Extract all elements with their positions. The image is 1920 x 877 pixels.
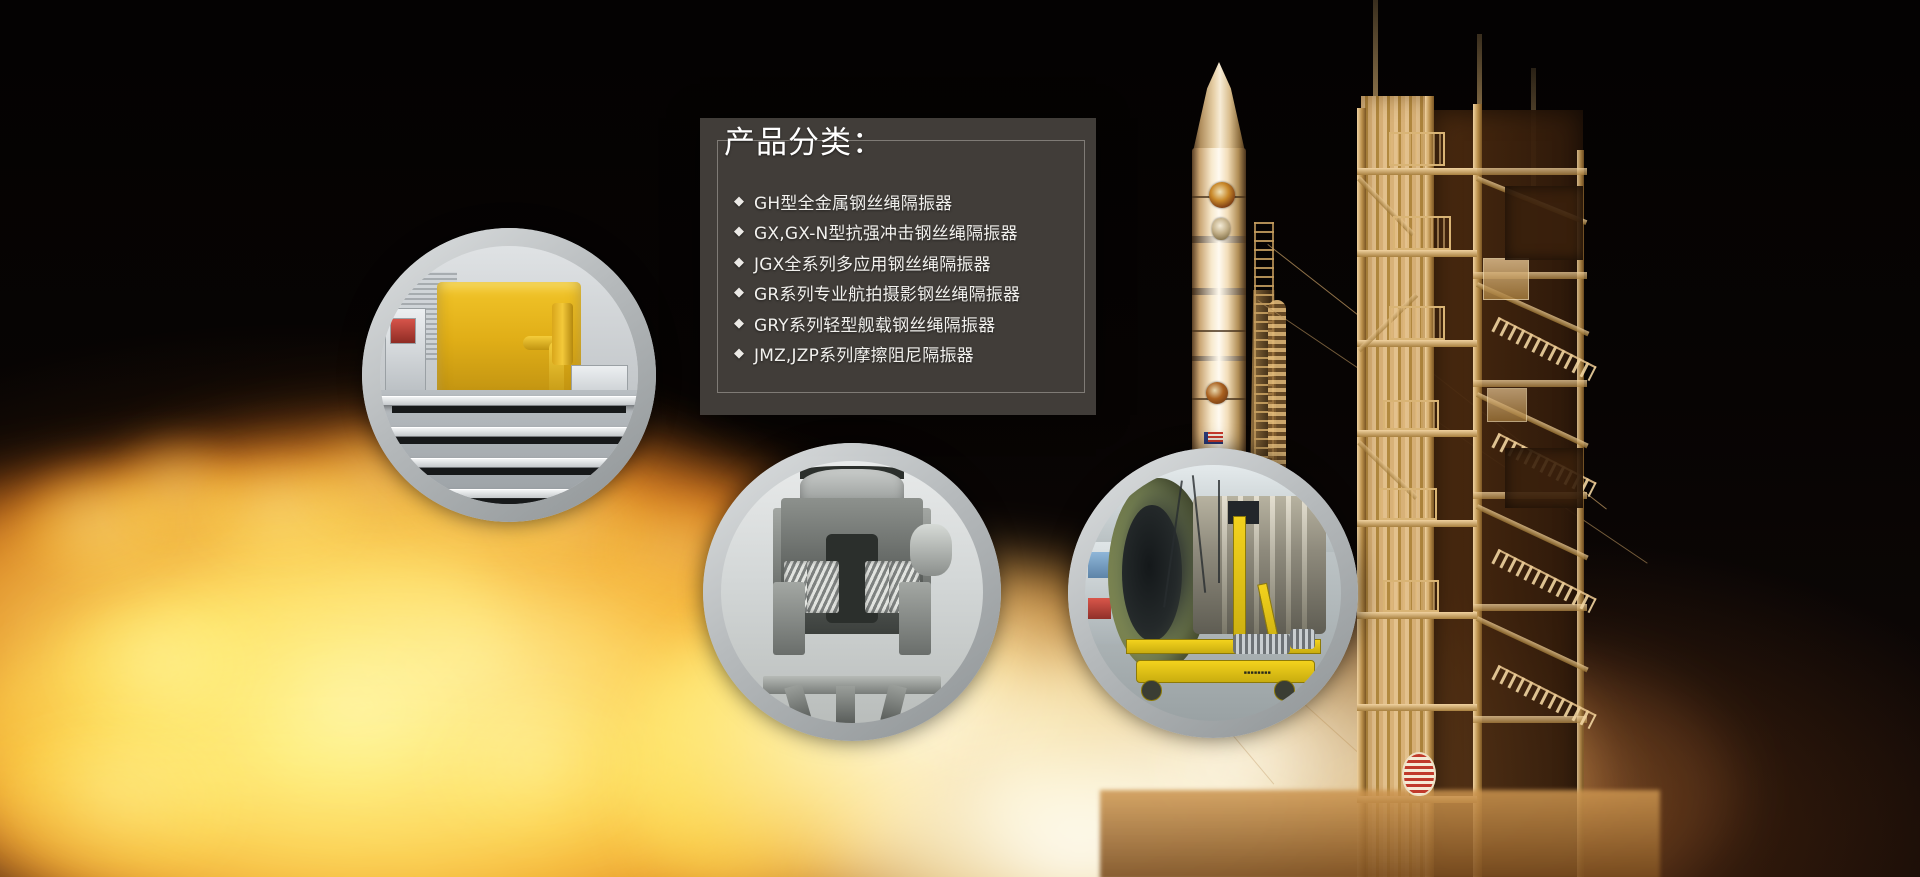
tower-platform <box>1393 216 1451 250</box>
product-category-label: GX,GX-N型抗强冲击钢丝绳隔振器 <box>754 219 1018 244</box>
tower-platform <box>1389 306 1445 340</box>
product-category-label: JGX全系列多应用钢丝绳隔振器 <box>754 250 991 275</box>
medallion-wire-rope-isolator <box>703 443 1001 741</box>
launch-service-tower <box>1355 0 1775 877</box>
product-category-item[interactable]: ◆GR系列专业航拍摄影钢丝绳隔振器 <box>734 278 1086 309</box>
medallion-turbine-engine: ■■■■■■■■ <box>1068 448 1358 738</box>
tower-platform <box>1379 488 1437 520</box>
turbine-engine-photo: ■■■■■■■■ <box>1085 465 1341 721</box>
product-category-label: GRY系列轻型舰载钢丝绳隔振器 <box>754 311 995 336</box>
rocket-nose-cone <box>1192 62 1246 156</box>
tower-platform <box>1383 580 1439 612</box>
wire-rope-isolator-photo <box>721 461 983 723</box>
mission-patch-3 <box>1206 382 1228 404</box>
banner-stage: Delta <box>0 0 1920 877</box>
product-category-item[interactable]: ◆JMZ,JZP系列摩擦阻尼隔振器 <box>734 339 1086 370</box>
product-category-item[interactable]: ◆GRY系列轻型舰载钢丝绳隔振器 <box>734 308 1086 339</box>
product-category-list: ◆GH型全金属钢丝绳隔振器◆GX,GX-N型抗强冲击钢丝绳隔振器◆JGX全系列多… <box>734 186 1086 369</box>
product-category-panel: 产品分类： ◆GH型全金属钢丝绳隔振器◆GX,GX-N型抗强冲击钢丝绳隔振器◆J… <box>700 118 1096 415</box>
diamond-bullet-icon: ◆ <box>734 317 754 330</box>
diamond-bullet-icon: ◆ <box>734 347 754 360</box>
diamond-bullet-icon: ◆ <box>734 225 754 238</box>
mission-patch-2 <box>1212 218 1230 240</box>
us-flag-decal <box>1204 432 1223 444</box>
diamond-bullet-icon: ◆ <box>734 256 754 269</box>
diamond-bullet-icon: ◆ <box>734 286 754 299</box>
tower-platform <box>1383 400 1439 430</box>
product-category-label: GR系列专业航拍摄影钢丝绳隔振器 <box>754 280 1020 305</box>
product-category-label: GH型全金属钢丝绳隔振器 <box>754 189 952 214</box>
tower-red-emblem <box>1402 752 1436 796</box>
diamond-bullet-icon: ◆ <box>734 195 754 208</box>
launch-pad-deck <box>1100 790 1660 877</box>
diesel-generator-photo <box>380 246 638 504</box>
medallion-diesel-generator <box>362 228 656 522</box>
product-category-label: JMZ,JZP系列摩擦阻尼隔振器 <box>754 341 974 366</box>
panel-title: 产品分类： <box>724 126 884 160</box>
product-category-item[interactable]: ◆JGX全系列多应用钢丝绳隔振器 <box>734 247 1086 278</box>
tower-platform <box>1389 132 1445 166</box>
product-category-item[interactable]: ◆GH型全金属钢丝绳隔振器 <box>734 186 1086 217</box>
mission-patch-1 <box>1209 182 1235 208</box>
product-category-item[interactable]: ◆GX,GX-N型抗强冲击钢丝绳隔振器 <box>734 217 1086 248</box>
